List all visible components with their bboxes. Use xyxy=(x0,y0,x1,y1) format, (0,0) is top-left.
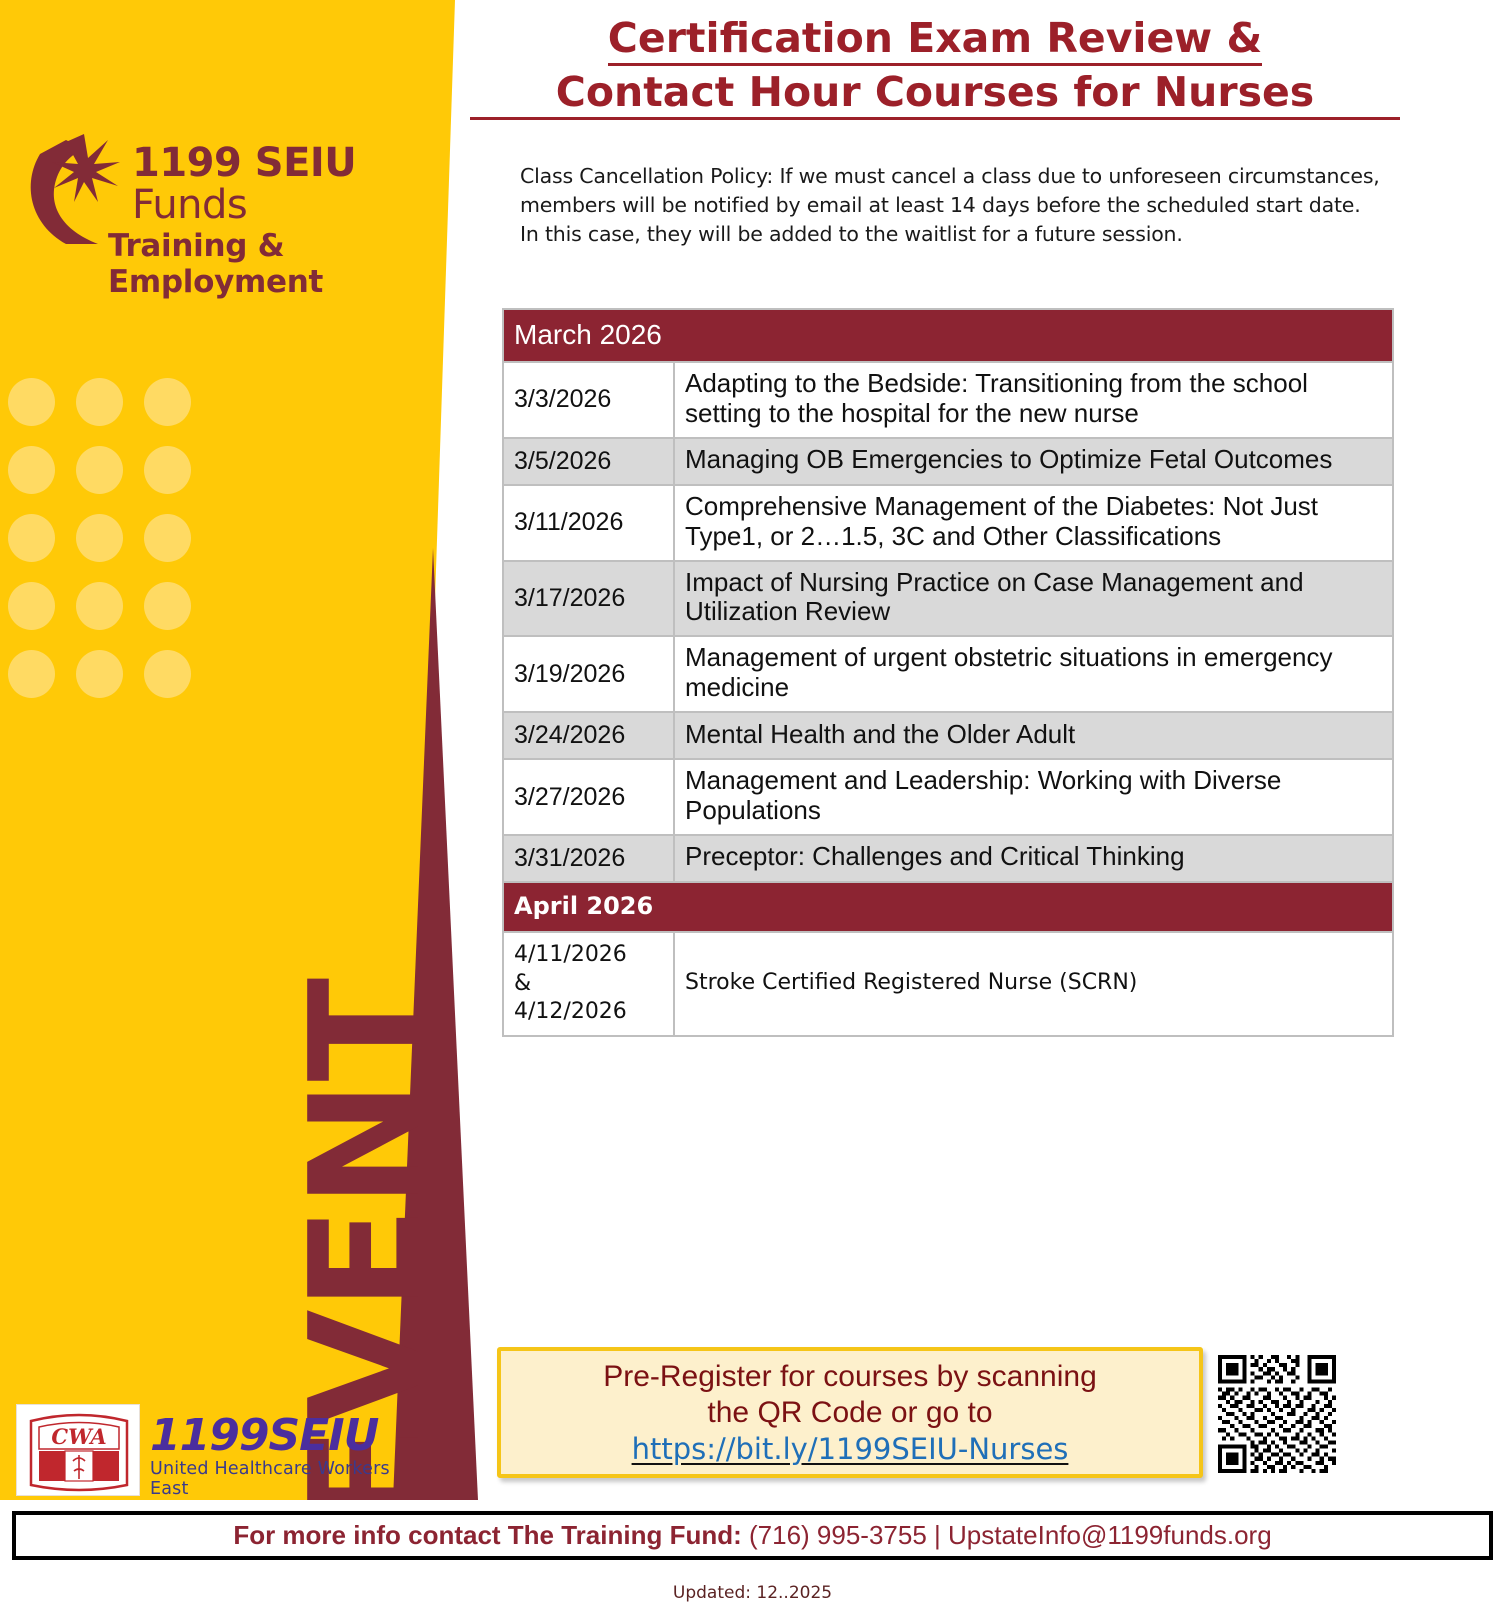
footer-contact-text: For more info contact The Training Fund:… xyxy=(233,1520,1271,1551)
fund-logo-line-1: 1199 SEIU Funds xyxy=(132,142,382,226)
fund-logo-light: Funds xyxy=(132,182,247,228)
course-schedule-table: March 2026 3/3/2026 Adapting to the Beds… xyxy=(502,308,1394,1037)
fund-logo-line-2: Training & Employment xyxy=(108,228,382,300)
course-date: 3/31/2026 xyxy=(503,835,674,882)
course-title: Mental Health and the Older Adult xyxy=(674,712,1393,759)
course-date: 3/19/2026 xyxy=(503,636,674,712)
page-title-line-1: Certification Exam Review & xyxy=(608,16,1262,66)
month-label: April 2026 xyxy=(514,892,653,920)
1199seiu-union-logo: 1199SEIU United Healthcare Workers East xyxy=(150,1414,395,1492)
cta-line-2: the QR Code or go to xyxy=(707,1395,992,1430)
course-title: Preceptor: Challenges and Critical Think… xyxy=(674,835,1393,882)
month-header-cell: March 2026 xyxy=(503,309,1393,362)
registration-link[interactable]: https://bit.ly/1199SEIU-Nurses xyxy=(632,1432,1069,1466)
footer-contact-value: (716) 995-3755 | UpstateInfo@1199funds.o… xyxy=(742,1520,1272,1550)
seiu-logo-sub: United Healthcare Workers East xyxy=(150,1459,395,1499)
event-schedule-vertical-title: EVENT SCHEDULE xyxy=(0,290,320,1500)
fund-logo-bold: 1199 SEIU xyxy=(132,140,356,186)
cta-line-1: Pre-Register for courses by scanning xyxy=(603,1359,1097,1394)
table-row: 3/31/2026 Preceptor: Challenges and Crit… xyxy=(503,835,1393,882)
cwa-crest-icon: CWA xyxy=(21,1409,135,1491)
course-date: 3/11/2026 xyxy=(503,485,674,561)
footer-label: For more info contact The Training Fund: xyxy=(233,1520,741,1550)
svg-text:CWA: CWA xyxy=(51,1424,106,1449)
page-title: Certification Exam Review & Contact Hour… xyxy=(470,16,1400,120)
month-label: March 2026 xyxy=(514,319,662,350)
course-date: 3/17/2026 xyxy=(503,561,674,637)
table-row: 3/24/2026 Mental Health and the Older Ad… xyxy=(503,712,1393,759)
course-title: Comprehensive Management of the Diabetes… xyxy=(674,485,1393,561)
course-date: 3/27/2026 xyxy=(503,759,674,835)
table-row: 3/19/2026 Management of urgent obstetric… xyxy=(503,636,1393,712)
pre-register-callout: Pre-Register for courses by scanning the… xyxy=(497,1347,1203,1478)
course-date: 4/11/2026 & 4/12/2026 xyxy=(503,932,674,1036)
table-row: 3/3/2026 Adapting to the Bedside: Transi… xyxy=(503,362,1393,438)
page-title-line-2: Contact Hour Courses for Nurses xyxy=(470,70,1400,120)
schedule-table-body: March 2026 3/3/2026 Adapting to the Beds… xyxy=(503,309,1393,1036)
1199seiu-funds-logo: 1199 SEIU Funds Training & Employment xyxy=(22,132,382,252)
course-title: Stroke Certified Registered Nurse (SCRN) xyxy=(674,932,1393,1036)
course-title: Management and Leadership: Working with … xyxy=(674,759,1393,835)
table-row: 3/11/2026 Comprehensive Management of th… xyxy=(503,485,1393,561)
course-title: Adapting to the Bedside: Transitioning f… xyxy=(674,362,1393,438)
qr-code-image[interactable] xyxy=(1218,1355,1336,1473)
month-header-row: April 2026 xyxy=(503,882,1393,932)
table-row: 3/5/2026 Managing OB Emergencies to Opti… xyxy=(503,438,1393,485)
contact-footer-bar: For more info contact The Training Fund:… xyxy=(12,1511,1493,1560)
updated-timestamp: Updated: 12..2025 xyxy=(0,1583,1505,1603)
cwa-union-logo: CWA xyxy=(16,1404,140,1496)
course-title: Impact of Nursing Practice on Case Manag… xyxy=(674,561,1393,637)
vertical-title-line-1: EVENT xyxy=(291,290,441,1500)
flyer-page: EVENT SCHEDULE 1199 SEIU Funds Training … xyxy=(0,0,1505,1624)
fund-logo-text: 1199 SEIU Funds Training & Employment xyxy=(132,142,382,300)
course-title: Managing OB Emergencies to Optimize Feta… xyxy=(674,438,1393,485)
seiu-logo-main: 1199SEIU xyxy=(150,1414,395,1458)
course-date: 3/3/2026 xyxy=(503,362,674,438)
table-row: 3/17/2026 Impact of Nursing Practice on … xyxy=(503,561,1393,637)
course-date: 3/24/2026 xyxy=(503,712,674,759)
month-header-row: March 2026 xyxy=(503,309,1393,362)
table-row: 4/11/2026 & 4/12/2026 Stroke Certified R… xyxy=(503,932,1393,1036)
course-date: 3/5/2026 xyxy=(503,438,674,485)
cancellation-policy-text: Class Cancellation Policy: If we must ca… xyxy=(520,162,1380,249)
month-header-cell: April 2026 xyxy=(503,882,1393,932)
course-title: Management of urgent obstetric situation… xyxy=(674,636,1393,712)
table-row: 3/27/2026 Management and Leadership: Wor… xyxy=(503,759,1393,835)
